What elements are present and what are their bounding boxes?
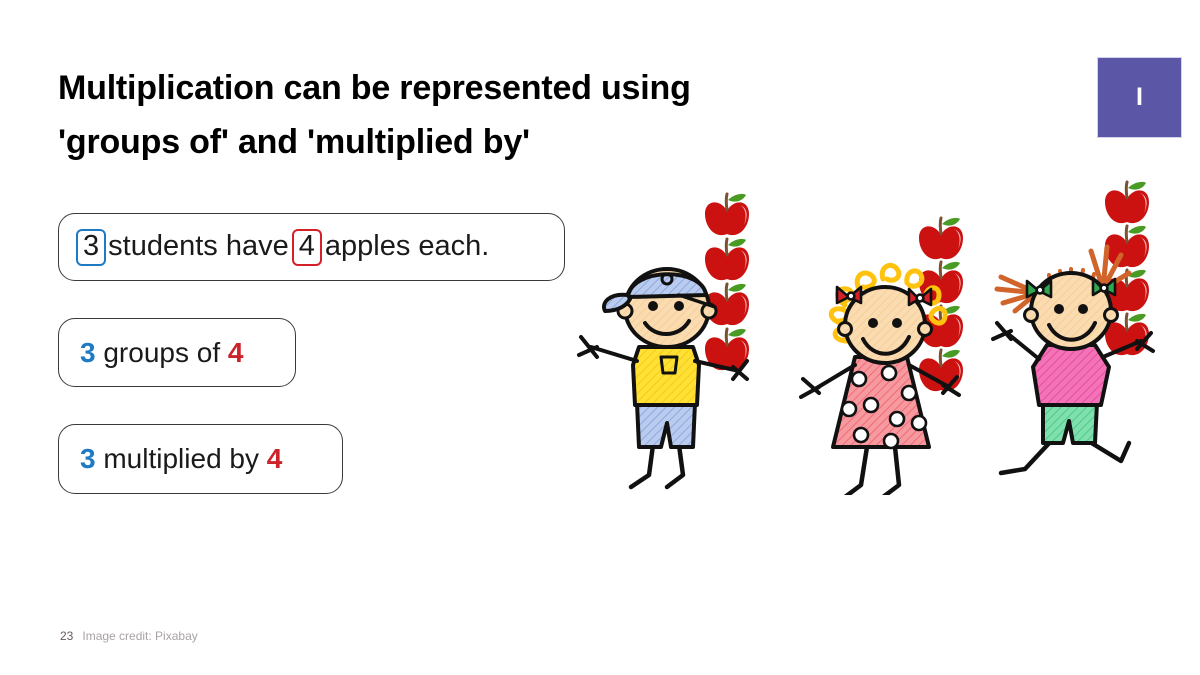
page-number: 23 — [60, 629, 73, 643]
sentence-content: 3students have4apples each. — [76, 229, 489, 266]
kid-girl-polka-dot-dress — [801, 218, 963, 495]
kid-boy-with-cap — [579, 194, 749, 487]
multiplied-by-content: 3 multiplied by 4 — [80, 445, 282, 473]
page-title: Multiplication can be represented using … — [58, 62, 878, 169]
kid-girl-pink-top — [993, 182, 1153, 473]
multiplied-by-number-multiplicand: 4 — [267, 443, 283, 474]
apple-stack-2 — [919, 218, 963, 391]
statement-box-multiplied-by: 3 multiplied by 4 — [58, 424, 343, 494]
groups-of-number-multiplicand: 4 — [228, 337, 244, 368]
groups-of-number-multiplier: 3 — [80, 337, 96, 368]
page-title-line-2: 'groups of' and 'multiplied by' — [58, 116, 878, 170]
multiplied-by-text: multiplied by — [103, 443, 259, 474]
sentence-number-multiplier: 3 — [76, 229, 106, 266]
statement-box-groups-of: 3 groups of 4 — [58, 318, 296, 387]
multiplied-by-spacer — [259, 443, 267, 474]
page-title-line-1: Multiplication can be represented using — [58, 62, 878, 116]
sentence-text-apples: apples each. — [325, 230, 489, 262]
footer: 23 Image credit: Pixabay — [60, 629, 198, 643]
sentence-number-multiplicand: 4 — [292, 229, 322, 266]
slide-badge: I — [1097, 57, 1182, 138]
apple-stack-1 — [705, 194, 749, 370]
sentence-text-students: students have — [108, 230, 289, 262]
groups-of-text: groups of — [103, 337, 220, 368]
image-credit: Image credit: Pixabay — [82, 629, 197, 643]
groups-of-spacer — [220, 337, 228, 368]
groups-of-content: 3 groups of 4 — [80, 339, 243, 367]
statement-box-sentence: 3students have4apples each. — [58, 213, 565, 281]
multiplied-by-number-multiplier: 3 — [80, 443, 96, 474]
slide-badge-label: I — [1136, 85, 1143, 110]
apples-illustration — [575, 175, 1175, 495]
